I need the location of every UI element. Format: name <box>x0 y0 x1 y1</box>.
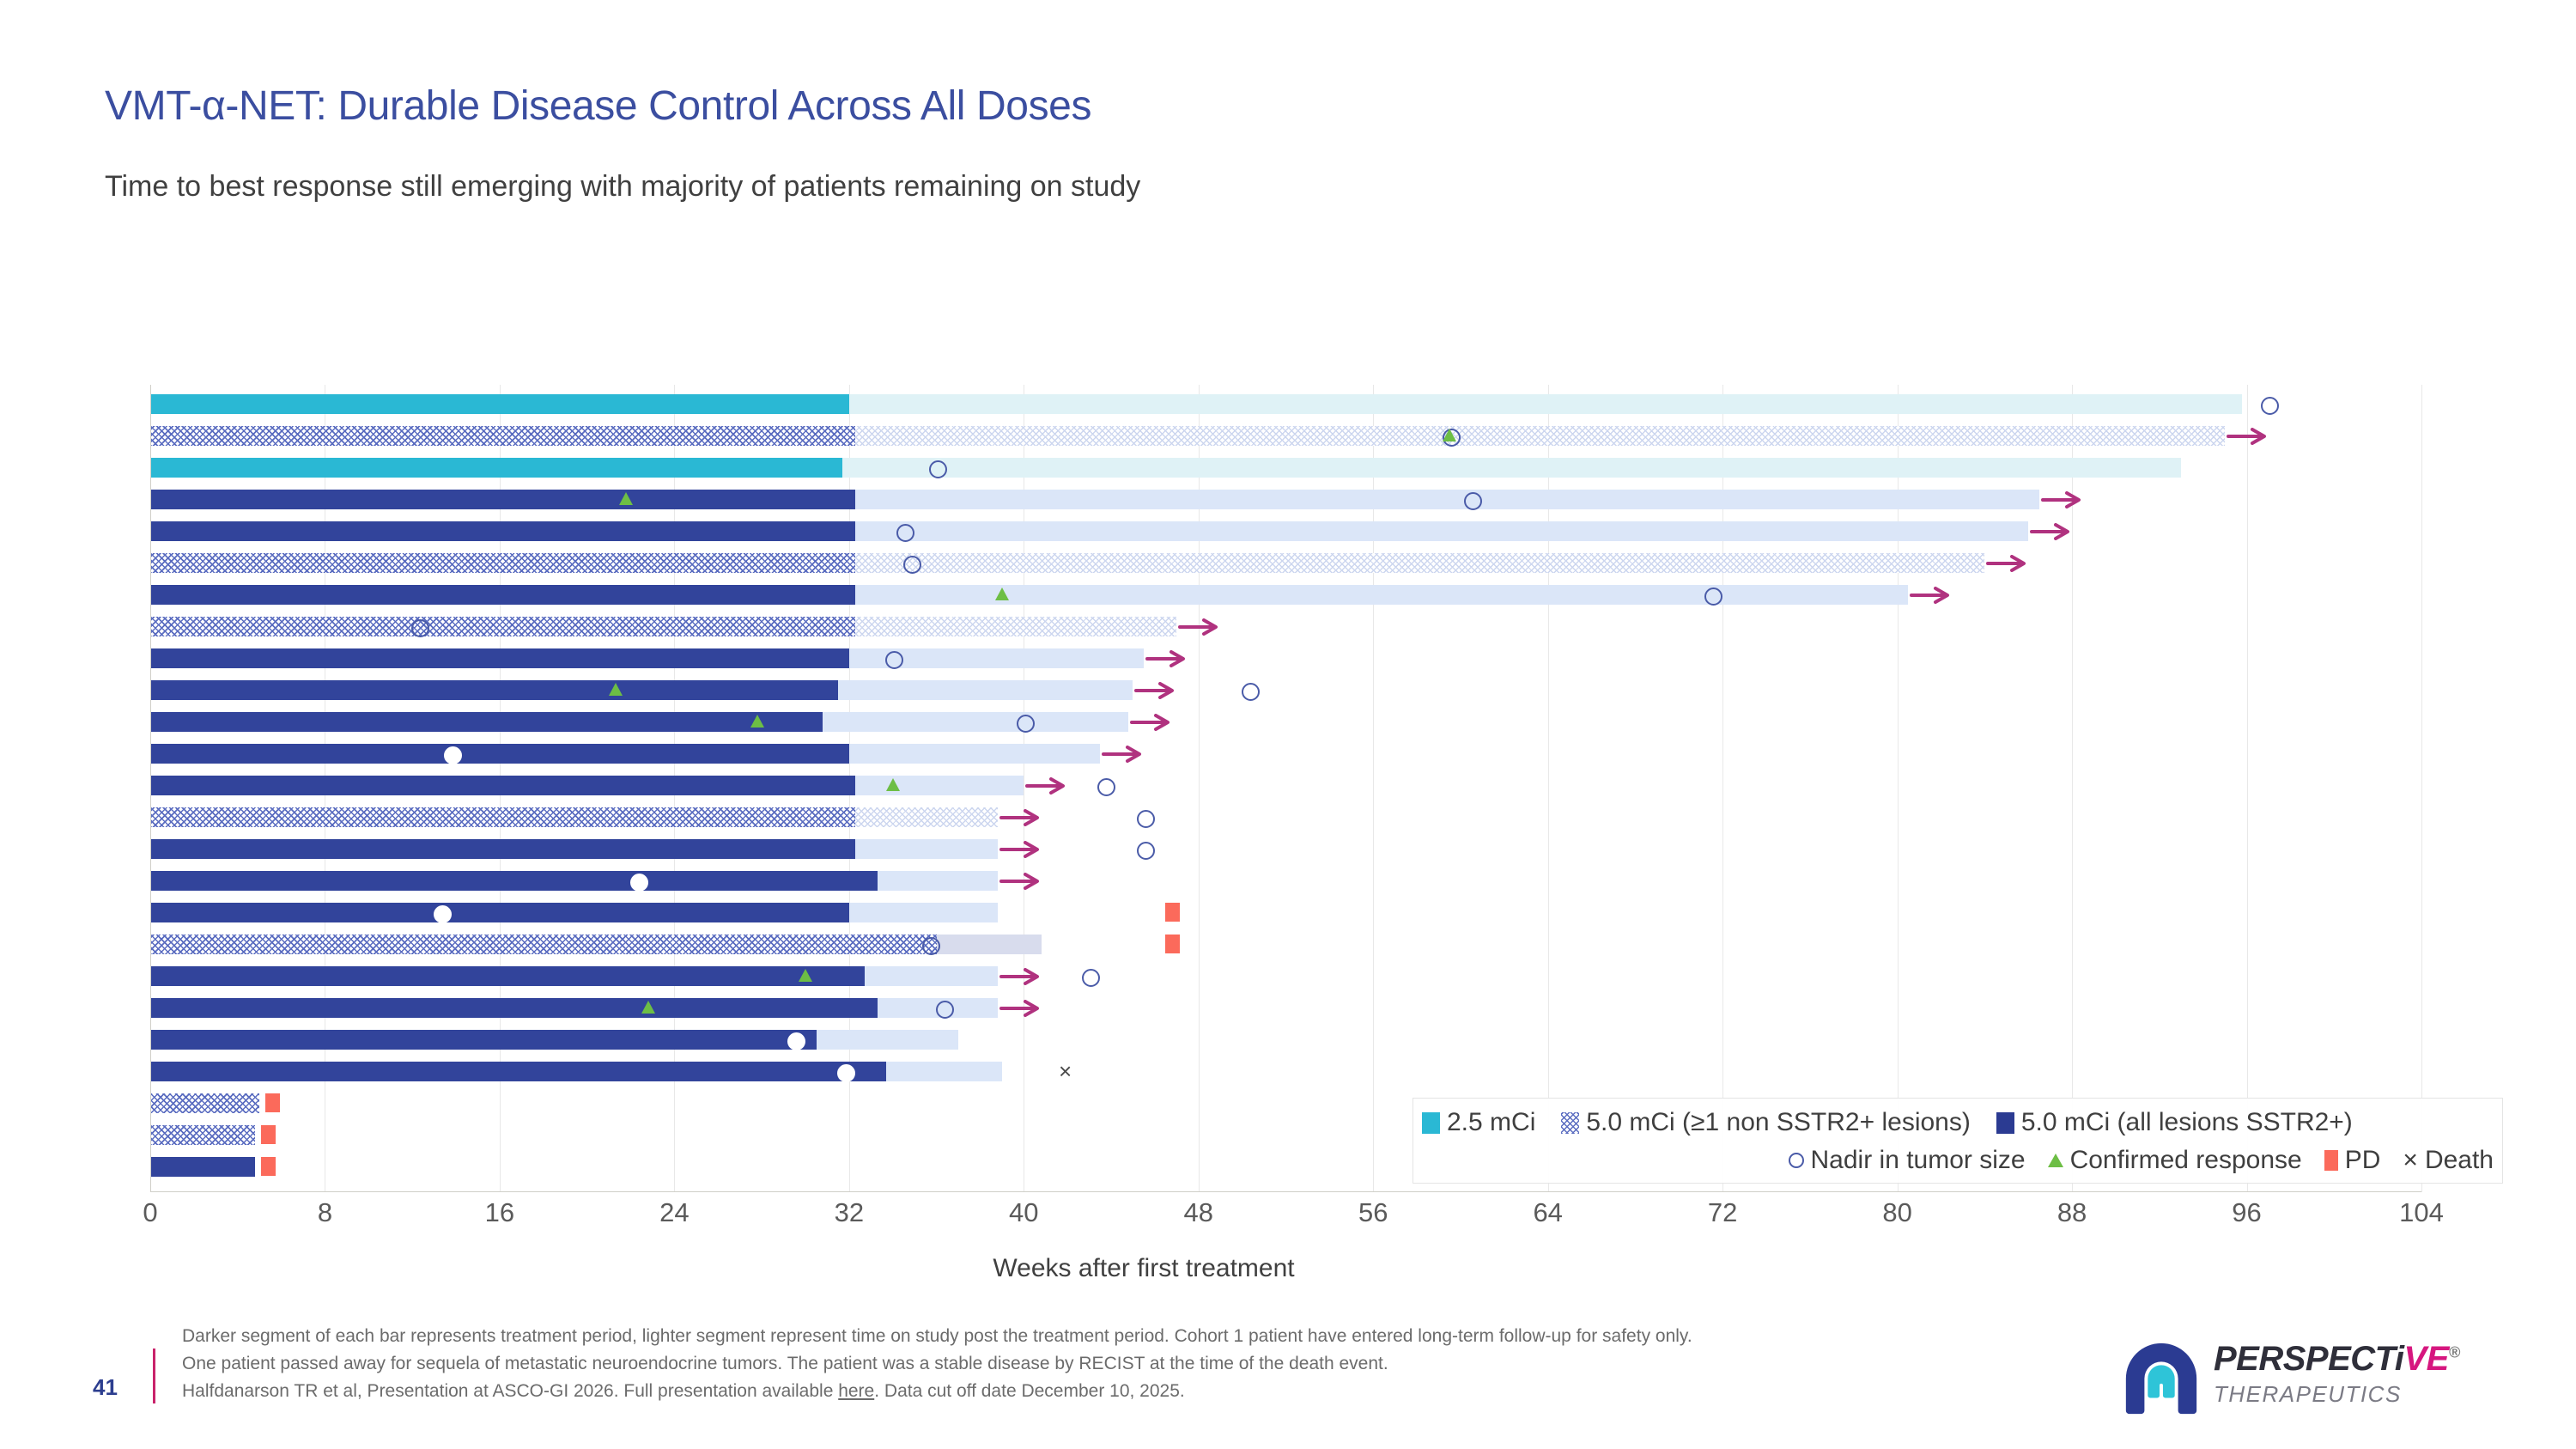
nadir-marker-icon <box>1097 778 1115 796</box>
nadir-marker-icon <box>903 556 921 574</box>
gridline-104 <box>2421 385 2422 1192</box>
bar-treatment-segment <box>150 1030 817 1050</box>
bar-treatment-segment <box>150 648 849 668</box>
nadir-marker-icon <box>1704 588 1722 606</box>
patient-row <box>150 611 2421 642</box>
confirmed-response-marker-icon <box>619 492 633 505</box>
progressive-disease-marker-icon <box>1165 935 1180 953</box>
footnotes: Darker segment of each bar represents tr… <box>182 1323 1692 1405</box>
death-marker-icon: × <box>1057 1062 1074 1080</box>
legend-item: 2.5 mCi <box>1422 1108 1535 1137</box>
ongoing-arrow-icon <box>1130 714 1178 731</box>
x-tick-label-48: 48 <box>1184 1197 1213 1228</box>
bar-treatment-segment <box>150 553 855 573</box>
confirmed-response-marker-icon <box>609 683 623 696</box>
legend-event-row: Nadir in tumor sizeConfirmed responsePD×… <box>1422 1142 2494 1179</box>
x-tick-label-104: 104 <box>2399 1197 2444 1228</box>
nadir-marker-icon <box>2261 397 2279 415</box>
bar-treatment-segment <box>150 871 878 891</box>
x-cross-icon: × <box>2403 1148 2418 1173</box>
nadir-marker-icon <box>929 460 947 478</box>
company-logo: PERSPECTiVE® THERAPEUTICS <box>2119 1336 2523 1422</box>
bar-treatment-segment <box>150 744 849 764</box>
bar-treatment-segment <box>150 903 849 922</box>
ongoing-arrow-icon <box>1134 682 1182 699</box>
patient-row <box>150 452 2421 484</box>
patient-row <box>150 579 2421 611</box>
confirmed-response-marker-icon <box>995 588 1009 600</box>
ongoing-arrow-icon <box>999 841 1048 858</box>
x-tick-label-40: 40 <box>1009 1197 1038 1228</box>
logo-company-name: PERSPECTiVE® <box>2214 1342 2460 1376</box>
page-title: VMT-α-NET: Durable Disease Control Acros… <box>105 82 1091 130</box>
bar-treatment-segment <box>150 712 823 732</box>
nadir-marker-icon <box>1137 810 1155 828</box>
ongoing-arrow-icon <box>2030 523 2078 540</box>
logo-text: PERSPECTiVE® THERAPEUTICS <box>2214 1342 2460 1405</box>
footnote-citation: Halfdanarson TR et al, Presentation at A… <box>182 1378 1692 1405</box>
progressive-disease-marker-icon <box>261 1125 276 1144</box>
legend-item-label: Death <box>2425 1146 2494 1175</box>
progressive-disease-marker-icon <box>1165 903 1180 922</box>
legend-item-label: PD <box>2345 1146 2381 1175</box>
bar-treatment-segment <box>150 394 849 414</box>
bar-treatment-segment <box>150 458 842 478</box>
confirmed-response-marker-icon <box>1443 429 1456 441</box>
legend-item: Confirmed response <box>2048 1146 2302 1175</box>
patient-row <box>150 642 2421 674</box>
x-tick-label-56: 56 <box>1358 1197 1388 1228</box>
legend-item-label: Nadir in tumor size <box>1811 1146 2026 1175</box>
patient-row: × <box>150 1056 2421 1087</box>
x-tick-label-64: 64 <box>1533 1197 1562 1228</box>
page-subtitle: Time to best response still emerging wit… <box>105 170 1140 204</box>
x-tick-label-80: 80 <box>1882 1197 1911 1228</box>
logo-registered-mark: ® <box>2449 1344 2460 1361</box>
patient-row <box>150 388 2421 420</box>
legend-dose-row: 2.5 mCi5.0 mCi (≥1 non SSTR2+ lesions)5.… <box>1422 1104 2494 1142</box>
patient-row <box>150 960 2421 992</box>
x-tick-label-8: 8 <box>318 1197 332 1228</box>
patient-row <box>150 770 2421 801</box>
x-tick-label-24: 24 <box>659 1197 689 1228</box>
nadir-marker-icon <box>1082 969 1100 987</box>
x-tick-label-0: 0 <box>143 1197 157 1228</box>
x-tick-label-96: 96 <box>2232 1197 2261 1228</box>
patient-row <box>150 484 2421 515</box>
patient-row <box>150 738 2421 770</box>
logo-name-part2: VE <box>2404 1340 2449 1378</box>
logo-tagline: THERAPEUTICS <box>2214 1383 2460 1405</box>
ongoing-arrow-icon <box>999 1000 1048 1017</box>
nadir-marker-icon <box>1017 715 1035 733</box>
patient-row <box>150 865 2421 897</box>
patient-row <box>150 706 2421 738</box>
bar-treatment-segment <box>150 1093 259 1113</box>
legend-item-label: 5.0 mCi (≥1 non SSTR2+ lesions) <box>1586 1108 1970 1137</box>
progressive-disease-marker-icon <box>261 1157 276 1176</box>
bar-treatment-segment <box>150 807 855 827</box>
legend-item: 5.0 mCi (all lesions SSTR2+) <box>1996 1108 2353 1137</box>
confirmed-response-marker-icon <box>886 778 900 791</box>
citation-pre: Halfdanarson TR et al, Presentation at A… <box>182 1381 838 1401</box>
ongoing-arrow-icon <box>999 968 1048 985</box>
legend-item-label: 2.5 mCi <box>1447 1108 1535 1137</box>
footnote-line-2: One patient passed away for sequela of m… <box>182 1350 1692 1378</box>
x-tick-label-72: 72 <box>1708 1197 1737 1228</box>
legend-item: Nadir in tumor size <box>1789 1146 2026 1175</box>
bar-treatment-segment <box>150 1157 255 1177</box>
citation-post: . Data cut off date December 10, 2025. <box>874 1381 1185 1401</box>
patient-row <box>150 992 2421 1024</box>
bar-treatment-segment <box>150 1062 886 1081</box>
ongoing-arrow-icon <box>1025 777 1073 795</box>
nadir-marker-icon <box>787 1032 805 1050</box>
confirmed-response-marker-icon <box>641 1001 655 1014</box>
legend-item: ×Death <box>2403 1146 2494 1175</box>
bar-treatment-segment <box>150 1125 255 1145</box>
patient-row <box>150 801 2421 833</box>
patient-row <box>150 897 2421 928</box>
bar-treatment-segment <box>150 776 855 795</box>
bar-treatment-segment <box>150 521 855 541</box>
legend-item-label: 5.0 mCi (all lesions SSTR2+) <box>2021 1108 2353 1137</box>
patient-row <box>150 928 2421 960</box>
citation-link[interactable]: here <box>838 1381 874 1401</box>
cyan-square-icon <box>1422 1112 1440 1134</box>
ongoing-arrow-icon <box>1178 618 1226 636</box>
ongoing-arrow-icon <box>2041 491 2089 508</box>
bar-treatment-segment <box>150 966 865 986</box>
ongoing-arrow-icon <box>2227 428 2275 445</box>
legend-item: 5.0 mCi (≥1 non SSTR2+ lesions) <box>1561 1108 1970 1137</box>
chart-x-axis-title-text: Weeks after first treatment <box>993 1254 1294 1282</box>
bar-treatment-segment <box>150 585 855 605</box>
patient-row <box>150 674 2421 706</box>
navy-square-icon <box>1996 1112 2014 1134</box>
chart-x-axis-title: Weeks after first treatment <box>0 1254 2576 1283</box>
footnote-line-1: Darker segment of each bar represents tr… <box>182 1323 1692 1350</box>
patient-row <box>150 420 2421 452</box>
legend-item: PD <box>2324 1146 2381 1175</box>
nadir-marker-icon <box>434 905 452 923</box>
nadir-marker-icon <box>1242 683 1260 701</box>
confirmed-response-marker-icon <box>750 715 764 728</box>
patient-row <box>150 833 2421 865</box>
swimmer-plot-chart: × <box>150 385 2421 1192</box>
red-square-icon <box>2324 1150 2338 1171</box>
open-circle-icon <box>1789 1153 1804 1168</box>
nadir-marker-icon <box>630 874 648 892</box>
bar-treatment-segment <box>150 617 855 636</box>
bar-treatment-segment <box>150 680 838 700</box>
bar-treatment-segment <box>150 490 855 509</box>
bar-treatment-segment <box>150 935 937 954</box>
legend-item-label: Confirmed response <box>2070 1146 2302 1175</box>
page-number: 41 <box>93 1374 118 1401</box>
nadir-marker-icon <box>936 1001 954 1019</box>
patient-row <box>150 547 2421 579</box>
nadir-marker-icon <box>896 524 914 542</box>
bar-treatment-segment <box>150 426 855 446</box>
chart-legend: 2.5 mCi5.0 mCi (≥1 non SSTR2+ lesions)5.… <box>1413 1098 2503 1184</box>
perspective-logo-mark-icon <box>2119 1336 2203 1421</box>
ongoing-arrow-icon <box>1986 555 2034 572</box>
chart-axis-left <box>150 385 151 1192</box>
ongoing-arrow-icon <box>999 873 1048 890</box>
ongoing-arrow-icon <box>1910 587 1958 604</box>
patient-row <box>150 1024 2421 1056</box>
x-tick-label-32: 32 <box>835 1197 864 1228</box>
green-triangle-icon <box>2048 1154 2063 1167</box>
nadir-marker-icon <box>1137 842 1155 860</box>
progressive-disease-marker-icon <box>265 1093 280 1112</box>
bar-treatment-segment <box>150 998 878 1018</box>
bar-treatment-segment <box>150 839 855 859</box>
chart-axis-bottom <box>150 1191 2421 1192</box>
x-tick-label-16: 16 <box>485 1197 514 1228</box>
confirmed-response-marker-icon <box>799 969 812 982</box>
patient-row <box>150 515 2421 547</box>
ongoing-arrow-icon <box>1102 746 1150 763</box>
hatched-square-icon <box>1561 1112 1579 1134</box>
ongoing-arrow-icon <box>1145 650 1194 667</box>
x-tick-label-88: 88 <box>2057 1197 2087 1228</box>
logo-name-part1: PERSPECTi <box>2214 1340 2404 1378</box>
footer-divider <box>153 1349 155 1403</box>
ongoing-arrow-icon <box>999 809 1048 826</box>
